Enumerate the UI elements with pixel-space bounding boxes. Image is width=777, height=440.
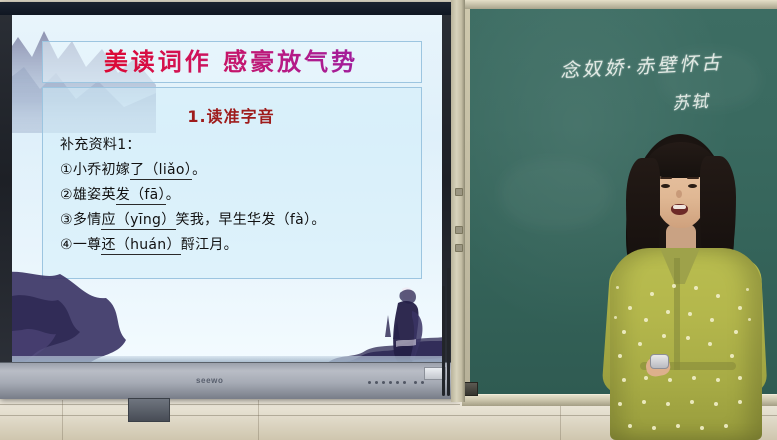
dress-dot — [700, 426, 704, 430]
line-pinyin: （huán） — [116, 237, 181, 255]
dress-dot — [644, 376, 648, 380]
line-after: 酹江月。 — [181, 237, 238, 253]
lesson-slide: 美读词作 感豪放气势 1.读准字音 补充资料1： ①小乔初嫁了（liǎo）。 ②… — [12, 15, 442, 362]
panel-cable — [447, 268, 450, 396]
wall-seam — [0, 404, 460, 405]
dress-dot — [618, 354, 622, 358]
dress-dot — [616, 286, 619, 289]
dress-dot — [618, 402, 622, 406]
dress-dot — [642, 400, 646, 404]
blackboard-frame-top — [462, 0, 777, 9]
dress-dot — [622, 330, 626, 334]
dress-dot — [652, 426, 656, 430]
teacher-mouth — [671, 204, 688, 215]
slide-body-text: 补充资料1： ①小乔初嫁了（liǎo）。 ②雄姿英发（fā）。 ③多情应（yīn… — [60, 133, 412, 258]
pronunciation-line-1: ①小乔初嫁了（liǎo）。 — [60, 158, 412, 183]
frame-screw-icon — [455, 226, 463, 234]
dress-dot — [614, 316, 617, 319]
line-pinyin: （yīng） — [116, 212, 176, 230]
dress-dot — [714, 402, 718, 406]
slide-subtitle: 1.读准字音 — [42, 103, 420, 127]
line-before: 多情 — [73, 212, 102, 228]
dress-dot — [690, 400, 694, 404]
dress-dot — [716, 294, 720, 298]
line-before: 一尊 — [73, 237, 102, 253]
dress-dot — [666, 402, 670, 406]
dress-dot — [666, 310, 670, 314]
power-led-icon — [421, 381, 424, 384]
teacher-eye-left — [661, 184, 670, 188]
ink-rocks-left-art — [12, 270, 152, 362]
dress-dot — [748, 318, 751, 321]
line-after: 笑我，早生华发（fà）。 — [176, 212, 326, 228]
wall-seam-vertical — [62, 400, 63, 440]
line-marker: ④ — [60, 237, 73, 253]
dress-dot — [730, 354, 734, 358]
presentation-clicker[interactable] — [650, 354, 669, 369]
dress-dot — [692, 376, 696, 380]
pronunciation-line-4: ④一尊还（huán）酹江月。 — [60, 233, 412, 258]
chalkboard-author-name: 苏轼 — [671, 87, 711, 115]
dress-dot — [628, 306, 632, 310]
teacher-eye-right — [688, 184, 697, 188]
dress-dot — [694, 286, 698, 290]
line-before: 小乔初嫁 — [73, 162, 130, 178]
line-marker: ③ — [60, 212, 73, 228]
power-led-icon — [389, 381, 392, 384]
teacher-placket — [674, 258, 680, 370]
dress-dot — [710, 318, 714, 322]
pronunciation-line-3: ③多情应（yīng）笑我，早生华发（fà）。 — [60, 208, 412, 233]
power-led-icon — [375, 381, 378, 384]
line-keyword: 应 — [101, 212, 115, 230]
panel-cable — [442, 286, 445, 396]
power-led-icon — [396, 381, 399, 384]
material-label: 补充资料1： — [60, 133, 412, 158]
line-keyword: 还 — [101, 237, 115, 255]
slide-title: 美读词作 感豪放气势 — [42, 46, 420, 78]
panel-mount-bracket — [128, 398, 170, 422]
dress-dot — [716, 378, 720, 382]
teacher-nose — [676, 190, 682, 198]
line-pinyin: （liǎo） — [144, 162, 192, 180]
wall-seam-vertical — [560, 406, 561, 440]
power-led-icon — [414, 381, 417, 384]
dress-dot — [734, 330, 738, 334]
dress-dot — [738, 376, 742, 380]
line-marker: ② — [60, 187, 73, 203]
wall-seam-vertical — [258, 400, 259, 440]
dress-dot — [738, 400, 742, 404]
teacher-figure — [588, 126, 777, 440]
line-keyword: 了 — [130, 162, 144, 180]
dress-dot — [662, 334, 666, 338]
panel-top-bezel — [0, 2, 458, 15]
dress-dot — [668, 378, 672, 382]
dress-dot — [622, 378, 626, 382]
teacher-eyebrow-right — [687, 177, 699, 179]
dress-dot — [676, 424, 680, 428]
teacher-eyebrow-left — [660, 177, 672, 179]
classroom-scene: 念奴娇·赤壁怀古 苏轼 — [0, 0, 777, 440]
dress-dot — [686, 336, 690, 340]
line-after: 。 — [166, 187, 180, 203]
power-led-icon — [382, 381, 385, 384]
panel-screen[interactable]: 美读词作 感豪放气势 1.读准字音 补充资料1： ①小乔初嫁了（liǎo）。 ②… — [12, 15, 442, 362]
dress-dot — [708, 342, 712, 346]
power-led-icon — [368, 381, 371, 384]
interactive-flat-panel[interactable]: 美读词作 感豪放气势 1.读准字音 补充资料1： ①小乔初嫁了（liǎo）。 ②… — [0, 2, 458, 398]
dress-dot — [688, 312, 692, 316]
line-before: 雄姿英 — [73, 187, 116, 203]
dress-dot — [746, 288, 749, 291]
dress-dot — [644, 318, 648, 322]
line-after: 。 — [192, 162, 206, 178]
dress-dot — [638, 342, 642, 346]
power-led-icon — [403, 381, 406, 384]
dress-dot — [628, 424, 632, 428]
line-keyword: 发 — [116, 187, 130, 205]
pronunciation-line-2: ②雄姿英发（fā）。 — [60, 183, 412, 208]
dress-dot — [724, 424, 728, 428]
line-marker: ① — [60, 162, 73, 178]
panel-side-frame — [451, 0, 465, 402]
dress-dot — [650, 292, 654, 296]
panel-brand-logo: seewo — [196, 376, 223, 385]
frame-screw-icon — [455, 244, 463, 252]
ink-figure-art — [382, 283, 430, 362]
dress-dot — [738, 306, 742, 310]
frame-screw-icon — [455, 188, 463, 196]
dress-dot — [672, 284, 676, 288]
line-pinyin: （fā） — [130, 187, 166, 205]
